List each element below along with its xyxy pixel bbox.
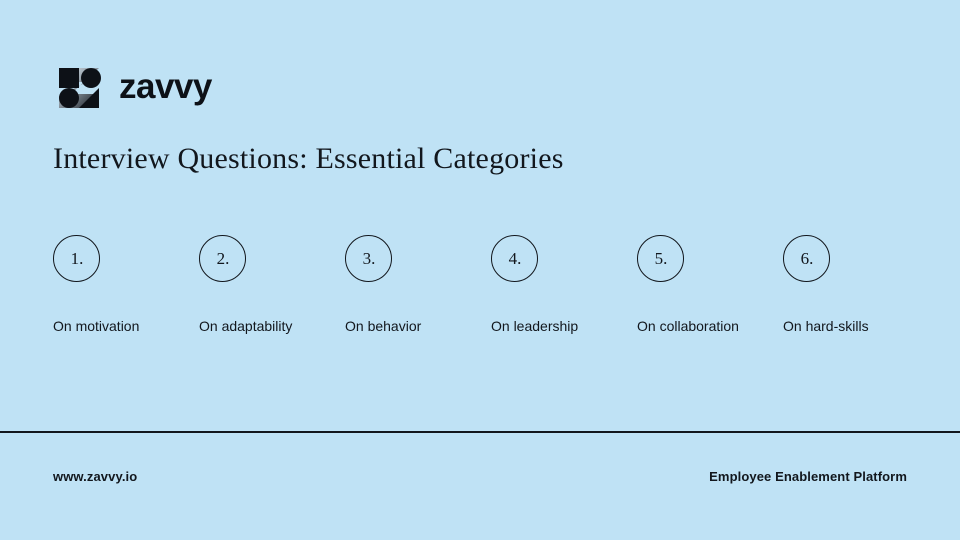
step-number-badge: 4. [491,235,538,282]
step-number-label: 1. [70,250,84,268]
step-item-4: 4. On leadership [491,235,637,335]
zavvy-logo-icon [53,62,105,114]
step-item-1: 1. On motivation [53,235,199,335]
step-number-label: 4. [508,250,522,268]
step-item-5: 5. On collaboration [637,235,783,335]
brand-lockup: zavvy [53,62,212,114]
step-item-2: 2. On adaptability [199,235,345,335]
step-number-label: 6. [800,250,814,268]
step-label: On leadership [491,318,637,335]
step-number-label: 5. [654,250,668,268]
step-label: On adaptability [199,318,345,335]
step-number-badge: 1. [53,235,100,282]
step-number-badge: 5. [637,235,684,282]
footer-tagline: Employee Enablement Platform [709,469,907,484]
steps-row: 1. On motivation 2. On adaptability 3. O… [53,235,907,335]
step-label: On collaboration [637,318,783,335]
step-label: On hard-skills [783,318,929,335]
step-number-badge: 2. [199,235,246,282]
footer-divider [0,431,960,433]
step-label: On behavior [345,318,491,335]
step-item-6: 6. On hard-skills [783,235,929,335]
step-item-3: 3. On behavior [345,235,491,335]
step-number-badge: 3. [345,235,392,282]
step-number-badge: 6. [783,235,830,282]
footer-website[interactable]: www.zavvy.io [53,469,137,484]
step-number-label: 3. [362,250,376,268]
step-number-label: 2. [216,250,230,268]
footer: www.zavvy.io Employee Enablement Platfor… [53,469,907,484]
brand-wordmark: zavvy [119,69,212,107]
step-label: On motivation [53,318,199,335]
slide-canvas: zavvy Interview Questions: Essential Cat… [0,0,960,540]
page-title: Interview Questions: Essential Categorie… [53,142,564,176]
